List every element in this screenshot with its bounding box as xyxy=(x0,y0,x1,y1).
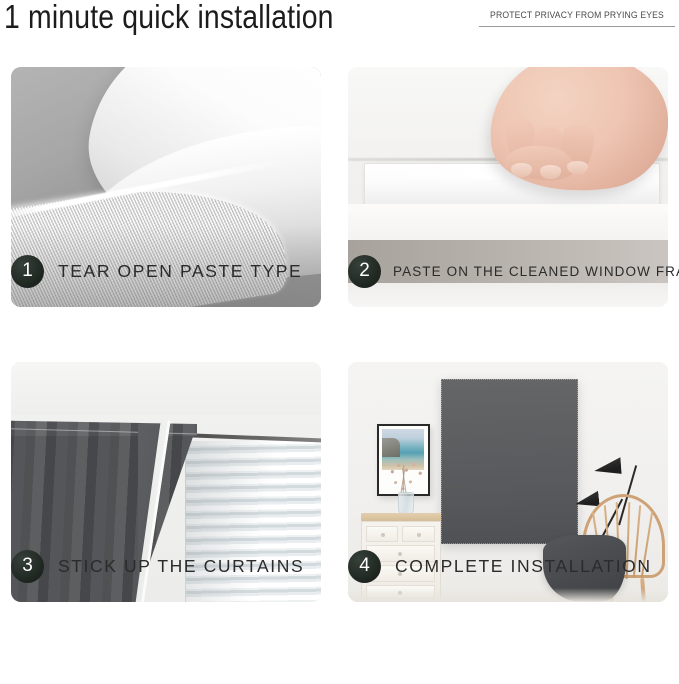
step-3-caption-row: 3 STICK UP THE CURTAINS xyxy=(11,549,331,583)
step-1-caption-row: 1 TEAR OPEN PASTE TYPE xyxy=(11,254,331,288)
photo4-artwork-cliff xyxy=(382,438,400,457)
photo2-fingernail-3 xyxy=(567,161,588,174)
step-1-caption-text: TEAR OPEN PASTE TYPE xyxy=(58,261,302,282)
step-4-caption-row: 4 COMPLETE INSTALLATION xyxy=(348,549,678,583)
step-2-number-badge: 2 xyxy=(348,255,381,288)
step-1-number-badge: 1 xyxy=(11,255,44,288)
photo2-strip-highlight xyxy=(374,168,502,180)
photo2-fingernail-2 xyxy=(540,165,561,178)
step-3-caption-text: STICK UP THE CURTAINS xyxy=(58,556,304,577)
photo4-drawer-knob xyxy=(381,533,385,537)
steps-grid xyxy=(0,58,679,684)
photo4-dresser-wood-top xyxy=(361,513,441,521)
photo3-ceiling xyxy=(11,362,321,415)
photo4-drawer-top-right xyxy=(402,526,435,542)
page-header: 1 minute quick installation PROTECT PRIV… xyxy=(0,0,679,58)
photo4-drawer-top-left xyxy=(366,526,399,542)
tagline-block: PROTECT PRIVACY FROM PRYING EYES xyxy=(479,10,675,27)
tagline-divider xyxy=(479,26,675,27)
photo4-drawer-knob xyxy=(417,533,421,537)
step-2-caption-row: 2 PASTE ON THE CLEANED WINDOW FRAME xyxy=(348,254,678,288)
step-4-caption-text: COMPLETE INSTALLATION xyxy=(395,556,652,577)
page-title: 1 minute quick installation xyxy=(4,0,334,36)
step-2-caption-text: PASTE ON THE CLEANED WINDOW FRAME xyxy=(393,264,679,279)
step-3-number-badge: 3 xyxy=(11,550,44,583)
tagline-text: PROTECT PRIVACY FROM PRYING EYES xyxy=(486,10,668,20)
photo4-curtain-stitching xyxy=(441,379,579,545)
photo2-frame-lower xyxy=(348,204,668,240)
step-4-number-badge: 4 xyxy=(348,550,381,583)
photo4-floor-shadow xyxy=(348,588,668,602)
